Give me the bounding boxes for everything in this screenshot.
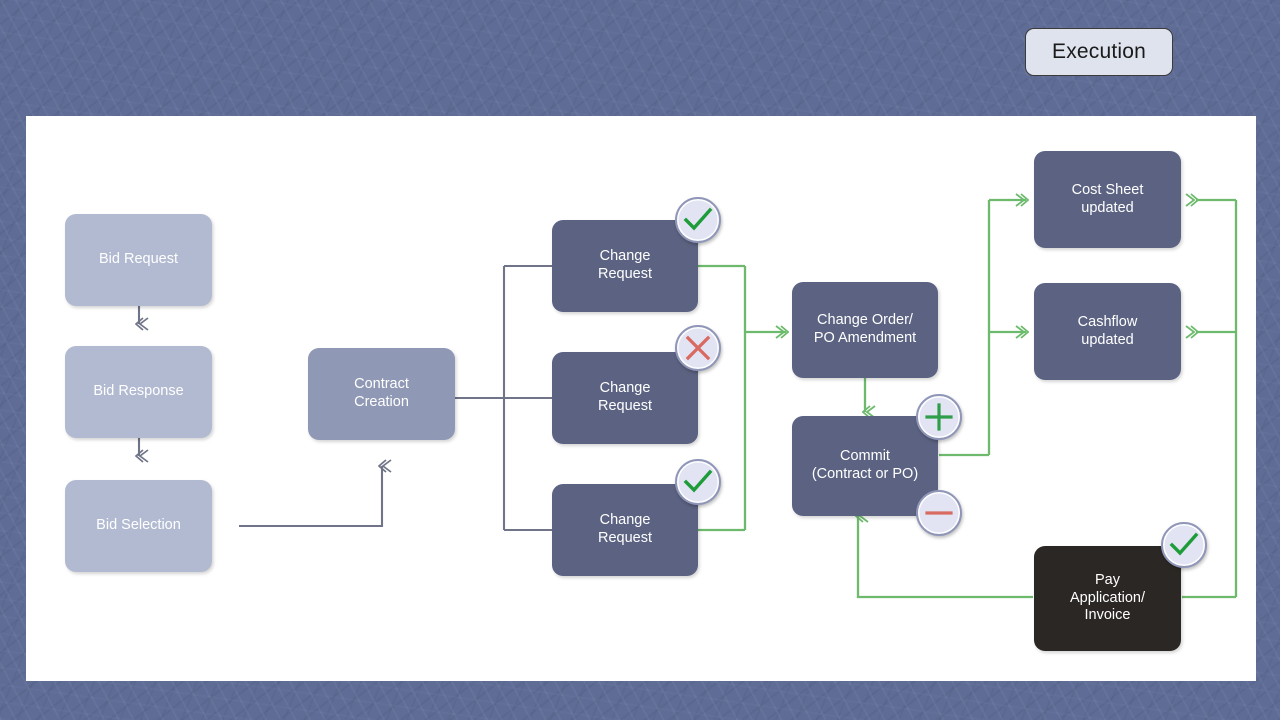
page-title: Execution: [1025, 28, 1173, 76]
node-cashflow-updated[interactable]: Cashflow updated: [1034, 283, 1181, 380]
node-cost-sheet-label-line2: updated: [1081, 200, 1133, 218]
node-change-request-2-label-line1: Change: [600, 380, 651, 398]
node-bid-request[interactable]: Bid Request: [65, 214, 212, 306]
node-pay-application-label-line2: Application/: [1070, 590, 1145, 608]
node-change-request-3-label-line2: Request: [598, 530, 652, 548]
node-bid-response-label: Bid Response: [93, 383, 183, 401]
node-change-request-2-label-line2: Request: [598, 398, 652, 416]
node-cashflow-label-line2: updated: [1081, 332, 1133, 350]
node-bid-response[interactable]: Bid Response: [65, 346, 212, 438]
pay-application-approved-badge[interactable]: [1161, 522, 1207, 568]
minus-icon: [918, 492, 960, 534]
change-request-3-approved-badge[interactable]: [675, 459, 721, 505]
connector-bid-selection-to-contract-creation: [239, 466, 382, 526]
node-commit-label-line1: Commit: [840, 448, 890, 466]
node-contract-creation-label-line2: Creation: [354, 394, 409, 412]
node-contract-creation-label-line1: Contract: [354, 376, 409, 394]
change-request-2-rejected-badge[interactable]: [675, 325, 721, 371]
change-request-1-approved-badge[interactable]: [675, 197, 721, 243]
cross-icon: [677, 327, 719, 369]
node-commit[interactable]: Commit (Contract or PO): [792, 416, 938, 516]
check-icon: [677, 461, 719, 503]
node-change-request-1-label-line1: Change: [600, 248, 651, 266]
node-pay-application-label-line3: Invoice: [1085, 607, 1131, 625]
node-cost-sheet-updated[interactable]: Cost Sheet updated: [1034, 151, 1181, 248]
check-icon: [677, 199, 719, 241]
node-contract-creation[interactable]: Contract Creation: [308, 348, 455, 440]
node-commit-label-line2: (Contract or PO): [812, 466, 918, 484]
slide-root: Execution: [0, 0, 1280, 720]
commit-increase-badge[interactable]: [916, 394, 962, 440]
node-change-order[interactable]: Change Order/ PO Amendment: [792, 282, 938, 378]
check-icon: [1163, 524, 1205, 566]
node-bid-selection-label: Bid Selection: [96, 517, 181, 535]
node-bid-selection[interactable]: Bid Selection: [65, 480, 212, 572]
node-change-order-label-line1: Change Order/: [817, 312, 913, 330]
node-cashflow-label-line1: Cashflow: [1078, 314, 1138, 332]
node-bid-request-label: Bid Request: [99, 251, 178, 269]
plus-icon: [918, 396, 960, 438]
node-change-request-3-label-line1: Change: [600, 512, 651, 530]
node-pay-application-label-line1: Pay: [1095, 572, 1120, 590]
node-cost-sheet-label-line1: Cost Sheet: [1072, 182, 1144, 200]
node-change-request-1-label-line2: Request: [598, 266, 652, 284]
node-pay-application-invoice[interactable]: Pay Application/ Invoice: [1034, 546, 1181, 651]
diagram-canvas: Bid Request Bid Response Bid Selection C…: [26, 116, 1256, 681]
node-change-order-label-line2: PO Amendment: [814, 330, 916, 348]
commit-decrease-badge[interactable]: [916, 490, 962, 536]
